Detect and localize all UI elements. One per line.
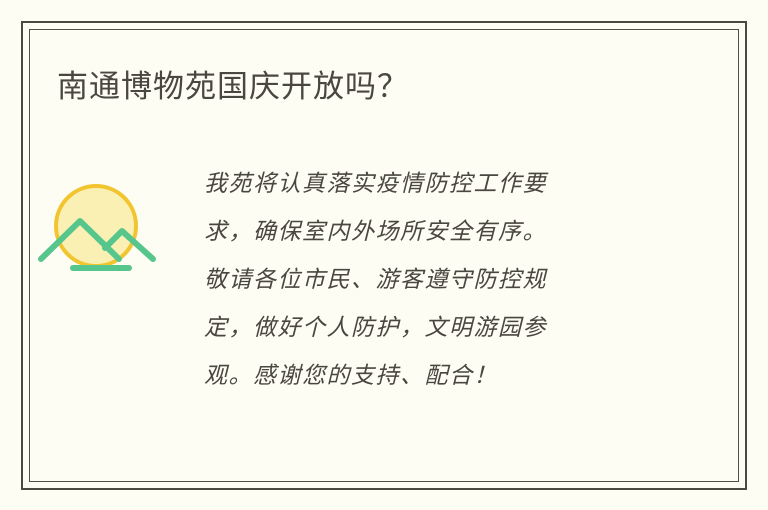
content-row: 我苑将认真落实疫情防控工作要 求，确保室内外场所安全有序。 敬请各位市民、游客遵…	[0, 160, 768, 400]
body-line: 观。感谢您的支持、配合！	[204, 352, 688, 400]
illustration-block	[0, 160, 200, 273]
announcement-body: 我苑将认真落实疫情防控工作要 求，确保室内外场所安全有序。 敬请各位市民、游客遵…	[200, 160, 768, 400]
body-line: 我苑将认真落实疫情防控工作要	[204, 160, 688, 208]
body-line: 求，确保室内外场所安全有序。	[204, 208, 688, 256]
body-line: 敬请各位市民、游客遵守防控规	[204, 256, 688, 304]
sun-over-mountains-icon	[35, 168, 165, 273]
poster-card: 南通博物苑国庆开放吗？ 我苑将认真落实疫情防控工作要 求，确保室内外场所安全有序…	[0, 0, 768, 510]
body-line: 定，做好个人防护，文明游园参	[204, 304, 688, 352]
page-title: 南通博物苑国庆开放吗？	[57, 67, 409, 107]
